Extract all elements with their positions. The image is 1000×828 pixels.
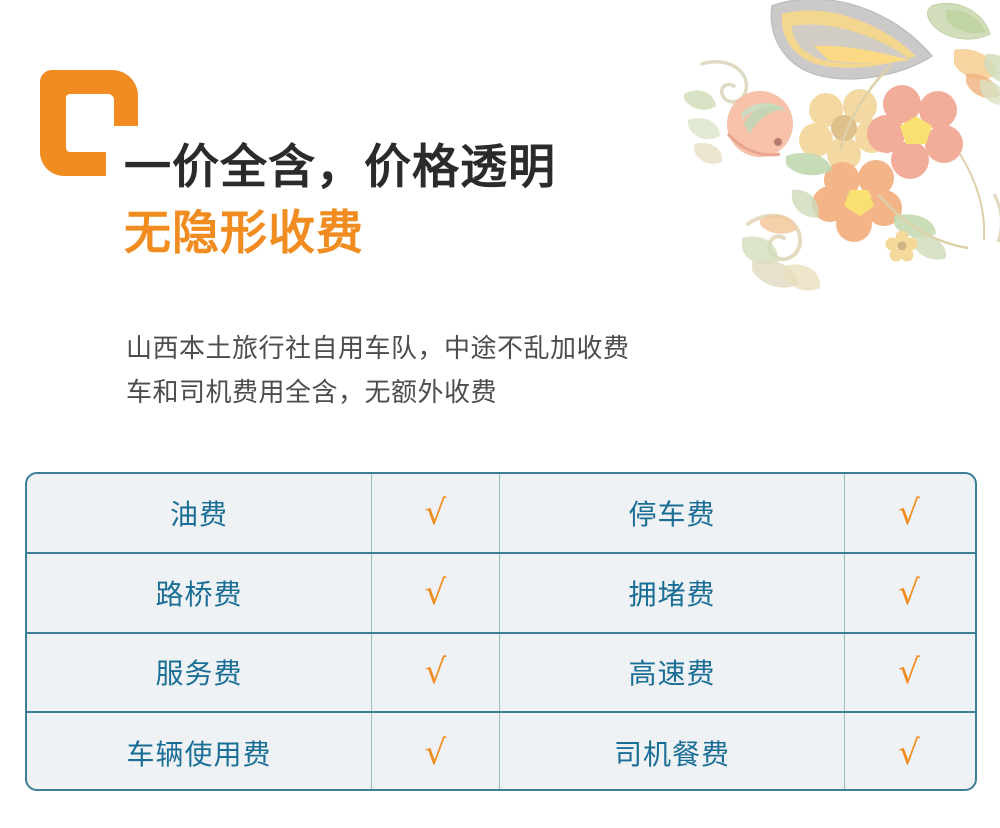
check-icon: √ bbox=[372, 634, 500, 712]
check-icon: √ bbox=[372, 713, 500, 791]
description-line-1: 山西本土旅行社自用车队，中途不乱加收费 bbox=[126, 326, 826, 370]
fee-label-right: 停车费 bbox=[500, 474, 845, 552]
headline-secondary: 无隐形收费 bbox=[124, 202, 764, 264]
included-fees-table: 油费 √ 停车费 √ 路桥费 √ 拥堵费 √ 服务费 √ 高速费 √ 车辆使用费… bbox=[25, 472, 977, 791]
fee-label-left: 路桥费 bbox=[27, 554, 372, 632]
check-icon: √ bbox=[845, 474, 973, 552]
check-icon: √ bbox=[845, 634, 973, 712]
page-title: 一价全含，价格透明 无隐形收费 bbox=[124, 138, 764, 264]
fee-label-right: 司机餐费 bbox=[500, 713, 845, 791]
description-line-2: 车和司机费用全含，无额外收费 bbox=[126, 370, 826, 414]
table-row: 油费 √ 停车费 √ bbox=[27, 474, 975, 554]
table-row: 服务费 √ 高速费 √ bbox=[27, 634, 975, 714]
check-icon: √ bbox=[372, 474, 500, 552]
fee-label-right: 拥堵费 bbox=[500, 554, 845, 632]
fee-label-left: 车辆使用费 bbox=[27, 713, 372, 791]
check-icon: √ bbox=[372, 554, 500, 632]
fee-label-left: 服务费 bbox=[27, 634, 372, 712]
headline-primary: 一价全含，价格透明 bbox=[124, 138, 764, 196]
fee-label-left: 油费 bbox=[27, 474, 372, 552]
description-block: 山西本土旅行社自用车队，中途不乱加收费 车和司机费用全含，无额外收费 bbox=[126, 326, 826, 414]
table-row: 车辆使用费 √ 司机餐费 √ bbox=[27, 713, 975, 791]
check-icon: √ bbox=[845, 554, 973, 632]
table-row: 路桥费 √ 拥堵费 √ bbox=[27, 554, 975, 634]
check-icon: √ bbox=[845, 713, 973, 791]
fee-label-right: 高速费 bbox=[500, 634, 845, 712]
